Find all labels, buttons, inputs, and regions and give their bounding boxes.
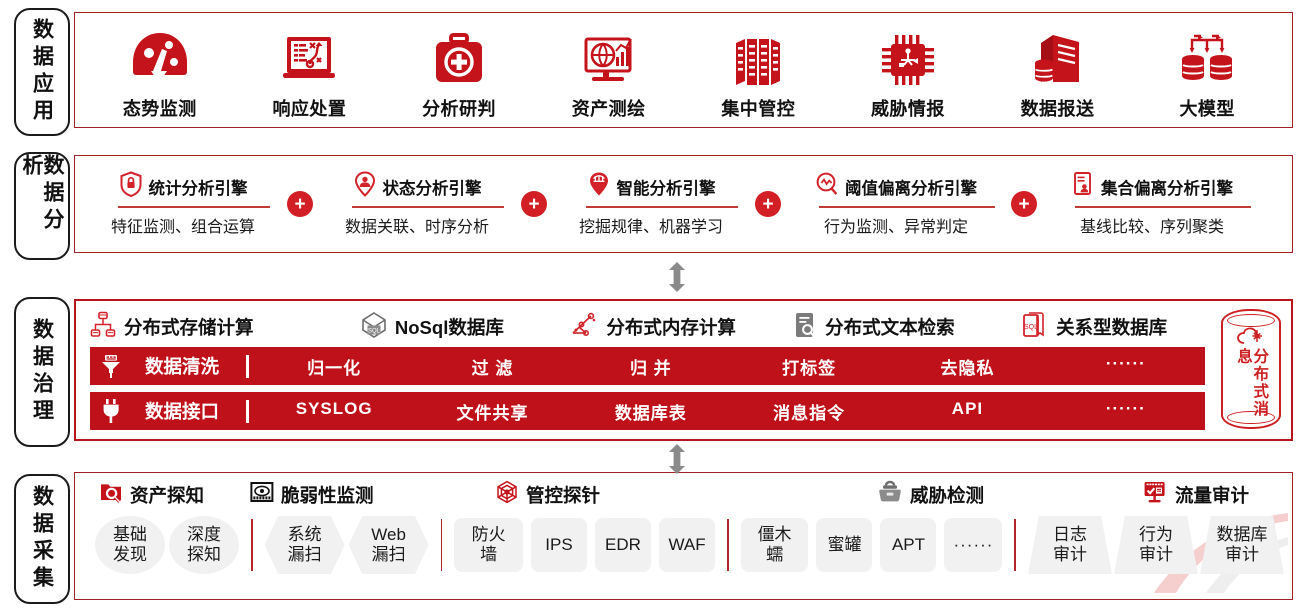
brain-pin-icon [587, 171, 611, 202]
group-divider-1 [251, 519, 253, 571]
asset-mapping-icon [578, 29, 640, 91]
platform-text-search[interactable]: 分布式文本检索 [764, 311, 985, 344]
row-collection: 资产探知 脆弱性监测 [74, 472, 1293, 600]
app-item-threat-intelligence[interactable]: 威胁情报 [848, 29, 968, 121]
threshold-wave-icon [815, 171, 839, 202]
band-cell[interactable]: 过 滤 [413, 354, 571, 379]
collection-chip[interactable]: Web漏扫 [349, 516, 429, 574]
engine-subtitle: 行为监测、异常判定 [824, 213, 968, 237]
side-label-application: 数据应用 [14, 8, 70, 136]
situation-monitor-icon [129, 29, 191, 91]
collection-item-row: 基础发现 深度探知 系统漏扫 Web漏扫 防火墙 IPS EDR WAF [87, 512, 1284, 578]
group-divider-4 [1014, 519, 1016, 571]
chip-text: Web漏扫 [371, 525, 406, 564]
engine-divider [819, 206, 995, 207]
platform-label: 分布式内存计算 [606, 314, 736, 340]
band-cell[interactable]: 归一化 [255, 354, 413, 379]
app-label: 数据报送 [1021, 95, 1095, 121]
band-cell-ellipsis: ······ [1047, 354, 1205, 379]
governance-platform-list: 分布式存储计算 SQL NoSql数据库 [90, 307, 1283, 347]
svg-text:SQL: SQL [368, 328, 381, 334]
shield-lock-icon [119, 171, 143, 202]
engine-divider [352, 206, 504, 207]
group-divider-3 [727, 519, 729, 571]
row-analysis: 统计分析引擎 特征监测、组合运算 + 状态分析引擎 [74, 155, 1293, 253]
band-divider [246, 400, 249, 423]
platform-label: NoSql数据库 [395, 314, 504, 340]
collection-chip[interactable]: 深度探知 [169, 516, 239, 574]
app-item-response-handling[interactable]: 响应处置 [249, 29, 369, 121]
large-model-icon [1176, 29, 1238, 91]
collection-chip[interactable]: IPS [531, 518, 587, 572]
distributed-message-cylinder[interactable]: 分布式消息 [1221, 309, 1281, 429]
row-governance: 分布式存储计算 SQL NoSql数据库 [74, 299, 1293, 441]
group-divider-2 [441, 519, 443, 571]
side-label-governance: 数据治理 [14, 297, 70, 447]
collection-head-label: 流量审计 [1175, 482, 1249, 508]
threat-detection-icon [877, 480, 903, 509]
collection-head-label: 威胁检测 [910, 482, 984, 508]
platform-distributed-memory[interactable]: 分布式内存计算 [543, 311, 764, 344]
band-cell[interactable]: SYSLOG [255, 399, 413, 424]
analysis-judgement-icon [428, 29, 490, 91]
collection-chip[interactable]: 蜜罐 [816, 518, 872, 572]
collection-head-asset-discovery[interactable]: 资产探知 [99, 480, 204, 509]
platform-nosql[interactable]: SQL NoSql数据库 [322, 311, 543, 344]
collection-head-label: 管控探针 [526, 482, 600, 508]
collection-head-label: 脆弱性监测 [281, 482, 374, 508]
distributed-memory-icon [570, 311, 598, 344]
governance-band-cleaning[interactable]: 数据清洗 归一化 过 滤 归 并 打标签 去隐私 ······ [90, 347, 1205, 385]
chip-text: 数据库审计 [1217, 525, 1268, 564]
platform-distributed-storage[interactable]: 分布式存储计算 [90, 311, 322, 344]
band-cell[interactable]: 文件共享 [413, 399, 571, 424]
platform-label: 分布式存储计算 [124, 314, 254, 340]
collection-chip[interactable]: WAF [659, 518, 715, 572]
text-search-icon [793, 311, 817, 344]
plus-icon-2: + [521, 191, 547, 217]
band-name: 数据接口 [124, 398, 240, 424]
centralized-control-icon [727, 29, 789, 91]
app-item-large-model[interactable]: 大模型 [1147, 29, 1267, 121]
app-label: 集中管控 [721, 95, 795, 121]
side-label-analysis: 数据分析 [14, 152, 70, 260]
band-cell[interactable]: API [888, 399, 1046, 424]
engine-divider [118, 206, 270, 207]
collection-chip[interactable]: EDR [595, 518, 651, 572]
collection-chip[interactable]: 基础发现 [95, 516, 165, 574]
band-cell[interactable]: 打标签 [730, 354, 888, 379]
cylinder-label: 分布式消息 [1235, 348, 1268, 427]
chip-text: 系统漏扫 [288, 525, 322, 564]
threat-intelligence-icon [877, 29, 939, 91]
engine-threshold-deviation[interactable]: 阈值偏离分析引擎 行为监测、异常判定 [787, 171, 1005, 236]
side-label-analysis-text: 数据分析 [21, 154, 63, 258]
chip-text: 深度探知 [187, 525, 221, 564]
engine-title: 集合偏离分析引擎 [1101, 175, 1233, 199]
plug-icon [98, 398, 124, 424]
person-pin-icon [353, 171, 377, 202]
app-label: 大模型 [1179, 95, 1235, 121]
band-cell[interactable]: 数据库表 [572, 399, 730, 424]
plus-icon-3: + [755, 191, 781, 217]
engine-title: 状态分析引擎 [383, 175, 482, 199]
engine-divider [586, 206, 738, 207]
plus-icon-1: + [287, 191, 313, 217]
engine-title: 阈值偏离分析引擎 [845, 175, 977, 199]
band-cell[interactable]: 消息指令 [730, 399, 888, 424]
arrow-analysis-governance [666, 262, 688, 292]
collection-head-vulnerability[interactable]: 脆弱性监测 [250, 480, 374, 509]
collection-head-traffic-audit[interactable]: 流量审计 [1142, 480, 1249, 509]
collection-head-control-probe[interactable]: 管控探针 [495, 480, 600, 509]
side-label-collection: 数据采集 [14, 474, 70, 604]
chip-text: 基础发现 [113, 525, 147, 564]
plus-icon-4: + [1011, 191, 1037, 217]
engine-set-deviation[interactable]: 集合偏离分析引擎 基线比较、序列聚类 [1043, 171, 1261, 236]
band-divider [246, 355, 249, 378]
engine-title: 智能分析引擎 [617, 175, 716, 199]
chip-text: 日志审计 [1053, 525, 1087, 564]
app-item-asset-mapping[interactable]: 资产测绘 [549, 29, 669, 121]
engine-subtitle: 基线比较、序列聚类 [1080, 213, 1224, 237]
funnel-icon [98, 353, 124, 379]
collection-chip[interactable]: 行为审计 [1114, 516, 1198, 574]
sql-database-icon: SQL [1022, 311, 1048, 344]
collection-chip[interactable]: 僵木蠕 [741, 518, 809, 572]
app-label: 分析研判 [422, 95, 496, 121]
collection-group-control-probe: 防火墙 IPS EDR WAF [454, 518, 715, 572]
engine-subtitle: 数据关联、时序分析 [345, 213, 489, 237]
app-item-centralized-control[interactable]: 集中管控 [698, 29, 818, 121]
band-cell[interactable]: 归 并 [572, 354, 730, 379]
platform-relational-db[interactable]: SQL 关系型数据库 [984, 311, 1205, 344]
engine-statistical[interactable]: 统计分析引擎 特征监测、组合运算 [85, 171, 281, 236]
band-cell-ellipsis: ······ [1047, 399, 1205, 424]
app-item-data-reporting[interactable]: 数据报送 [998, 29, 1118, 121]
engine-state[interactable]: 状态分析引擎 数据关联、时序分析 [319, 171, 515, 236]
architecture-diagram: 数据应用 态势监测 [0, 0, 1301, 608]
collection-chip[interactable]: 系统漏扫 [265, 516, 345, 574]
vulnerability-icon [250, 480, 274, 509]
collection-group-vulnerability: 系统漏扫 Web漏扫 [265, 516, 429, 574]
nosql-cube-icon: SQL [361, 311, 387, 344]
app-item-situation-monitor[interactable]: 态势监测 [100, 29, 220, 121]
collection-head-row: 资产探知 脆弱性监测 [87, 478, 1284, 508]
asset-discovery-icon [99, 480, 123, 509]
collection-chip[interactable]: 防火墙 [454, 518, 523, 572]
governance-band-interface[interactable]: 数据接口 SYSLOG 文件共享 数据库表 消息指令 API ······ [90, 392, 1205, 430]
platform-label: 关系型数据库 [1056, 314, 1167, 340]
band-cell[interactable]: 去隐私 [888, 354, 1046, 379]
side-label-collection-text: 数据采集 [32, 485, 53, 593]
collection-group-traffic-audit: 日志审计 行为审计 数据库审计 [1028, 516, 1284, 574]
distributed-storage-icon [90, 311, 116, 344]
collection-chip[interactable]: 数据库审计 [1200, 516, 1284, 574]
side-label-governance-text: 数据治理 [32, 318, 53, 426]
collection-group-threat-detection: 僵木蠕 蜜罐 APT ······ [741, 518, 1003, 572]
app-label: 资产测绘 [572, 95, 646, 121]
svg-text:SQL: SQL [1024, 324, 1038, 331]
side-label-application-text: 数据应用 [32, 18, 53, 126]
collection-head-label: 资产探知 [130, 482, 204, 508]
collection-head-threat-detection[interactable]: 威胁检测 [877, 480, 984, 509]
engine-divider [1075, 206, 1251, 207]
app-label: 响应处置 [272, 95, 346, 121]
document-person-icon [1071, 171, 1095, 202]
engine-intelligent[interactable]: 智能分析引擎 挖掘规律、机器学习 [553, 171, 749, 236]
row-application: 态势监测 [74, 12, 1293, 128]
platform-label: 分布式文本检索 [825, 314, 955, 340]
engine-subtitle: 挖掘规律、机器学习 [579, 213, 723, 237]
collection-chip-ellipsis: ······ [944, 518, 1002, 572]
band-name: 数据清洗 [124, 353, 240, 379]
app-item-analysis-judgement[interactable]: 分析研判 [399, 29, 519, 121]
engine-subtitle: 特征监测、组合运算 [111, 213, 255, 237]
app-label: 威胁情报 [871, 95, 945, 121]
collection-group-asset-discovery: 基础发现 深度探知 [95, 516, 239, 574]
engine-title: 统计分析引擎 [149, 175, 248, 199]
collection-chip[interactable]: 日志审计 [1028, 516, 1112, 574]
traffic-audit-icon [1142, 480, 1168, 509]
chip-text: 行为审计 [1139, 525, 1173, 564]
control-probe-icon [495, 480, 519, 509]
response-handling-icon [278, 29, 340, 91]
arrow-governance-collection [666, 444, 688, 474]
data-reporting-icon [1027, 29, 1089, 91]
collection-chip[interactable]: APT [880, 518, 936, 572]
app-label: 态势监测 [123, 95, 197, 121]
